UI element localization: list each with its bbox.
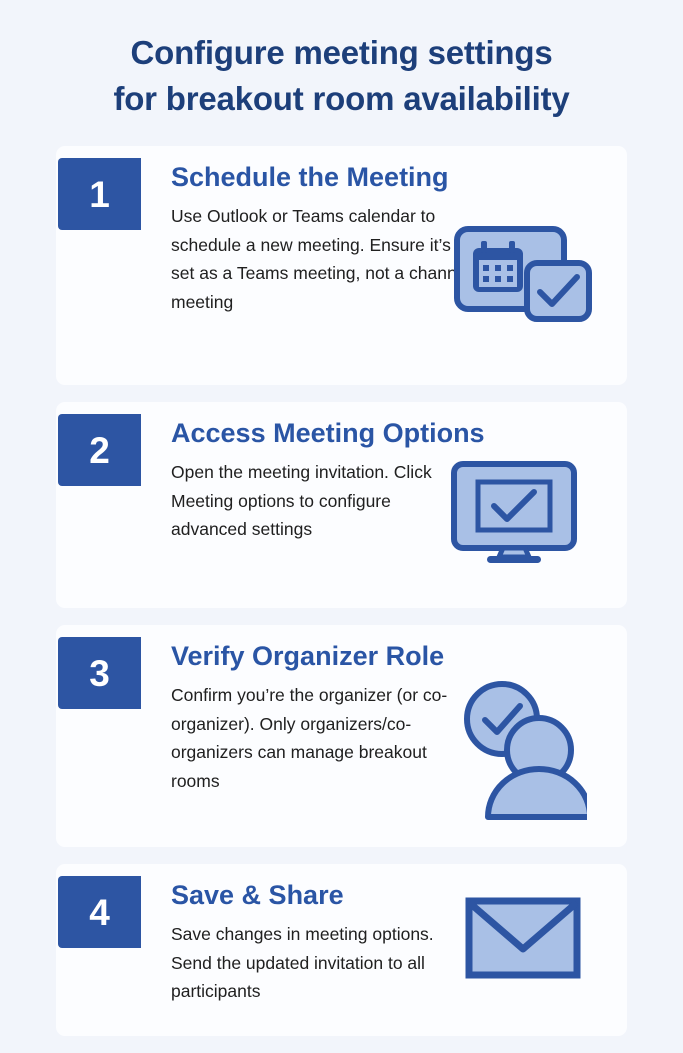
- step-card-2: 2 Access Meeting Options Open the meetin…: [56, 402, 627, 608]
- step-heading-3: Verify Organizer Role: [171, 639, 619, 673]
- step-number-badge-4: 4: [58, 876, 141, 948]
- step-heading-2: Access Meeting Options: [171, 416, 619, 450]
- step-description-3: Confirm you’re the organizer (or co-orga…: [171, 681, 461, 795]
- step-card-1: 1 Schedule the Meeting Use Outlook or Te…: [56, 146, 627, 385]
- steps-list: 1 Schedule the Meeting Use Outlook or Te…: [56, 146, 627, 1053]
- step-description-2: Open the meeting invitation. Click Meeti…: [171, 458, 463, 544]
- step-number-badge-3: 3: [58, 637, 141, 709]
- page-title-line-2: for breakout room availability: [38, 76, 645, 122]
- monitor-check-icon: [449, 460, 579, 569]
- step-number-badge-2: 2: [58, 414, 141, 486]
- step-description-1: Use Outlook or Teams calendar to schedul…: [171, 202, 471, 316]
- step-number-badge-1: 1: [58, 158, 141, 230]
- step-description-4: Save changes in meeting options. Send th…: [171, 920, 461, 1006]
- step-card-3: 3 Verify Organizer Role Confirm you’re t…: [56, 625, 627, 847]
- step-card-4: 4 Save & Share Save changes in meeting o…: [56, 864, 627, 1036]
- page-title-line-1: Configure meeting settings: [38, 30, 645, 76]
- person-verified-icon: [462, 677, 587, 825]
- step-heading-1: Schedule the Meeting: [171, 160, 619, 194]
- infographic-page: Configure meeting settings for breakout …: [0, 0, 683, 1024]
- calendar-check-icon: [452, 224, 597, 329]
- envelope-icon: [464, 896, 582, 985]
- page-title: Configure meeting settings for breakout …: [0, 0, 683, 122]
